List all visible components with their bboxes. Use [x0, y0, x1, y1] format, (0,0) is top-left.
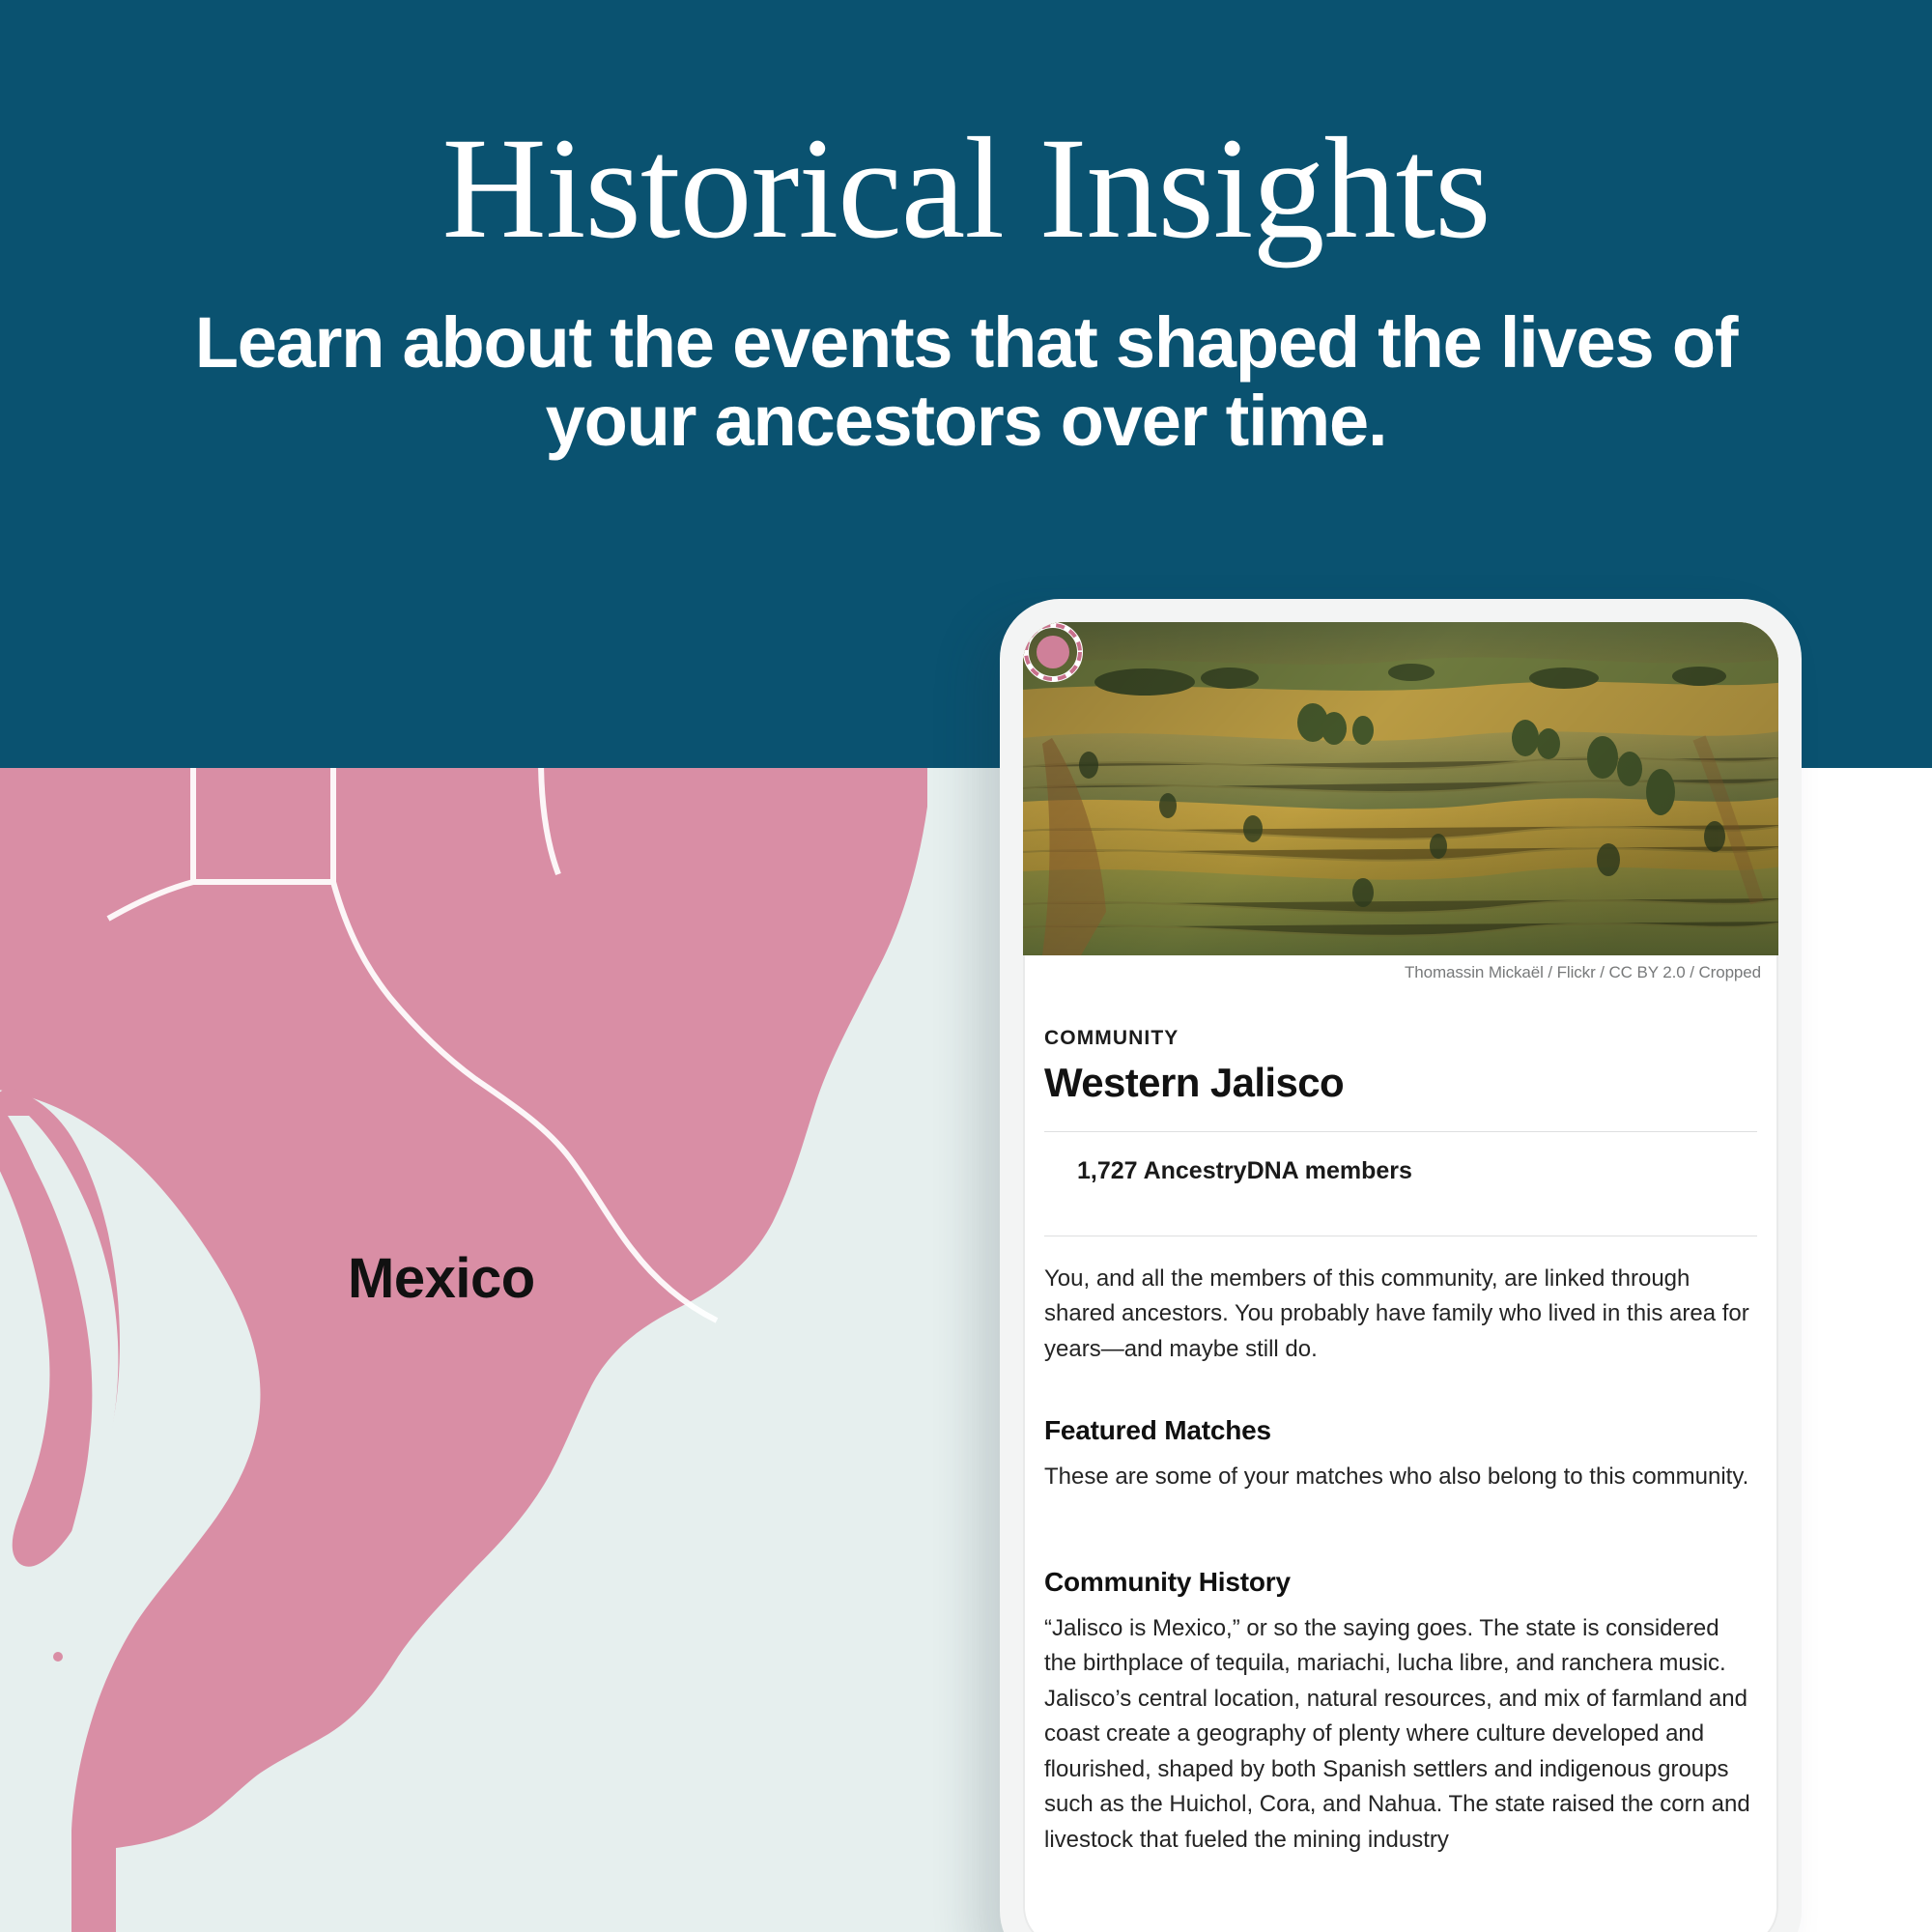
section-spacer — [1044, 1495, 1757, 1551]
photo-attribution: Thomassin Mickaël / Flickr / CC BY 2.0 /… — [1405, 963, 1761, 982]
phone-mockup: Thomassin Mickaël / Flickr / CC BY 2.0 /… — [1000, 599, 1802, 1932]
map-country-label: Mexico — [348, 1246, 535, 1311]
page-title: Historical Insights — [0, 0, 1932, 261]
divider-bottom — [1044, 1236, 1757, 1236]
phone-screen[interactable]: Thomassin Mickaël / Flickr / CC BY 2.0 /… — [1023, 622, 1778, 1932]
intro-paragraph: You, and all the members of this communi… — [1044, 1262, 1757, 1367]
community-hero-photo — [1023, 622, 1778, 955]
island-b — [53, 1652, 63, 1662]
section-heading-featured-matches: Featured Matches — [1044, 1415, 1757, 1446]
community-content: COMMUNITY Western Jalisco 1,727 Ancestry… — [1023, 1027, 1778, 1858]
map-svg — [0, 768, 1043, 1932]
mexico-map[interactable] — [0, 768, 1043, 1932]
community-ring-icon — [1023, 622, 1083, 682]
section-heading-community-history: Community History — [1044, 1567, 1757, 1598]
page-subtitle: Learn about the events that shaped the l… — [116, 261, 1816, 461]
community-title: Western Jalisco — [1044, 1060, 1757, 1106]
section-body-featured-matches: These are some of your matches who also … — [1044, 1460, 1757, 1494]
section-body-community-history: “Jalisco is Mexico,” or so the saying go… — [1044, 1611, 1757, 1858]
community-eyebrow: COMMUNITY — [1044, 1027, 1757, 1050]
farmland-illustration — [1023, 622, 1778, 955]
members-count: 1,727 AncestryDNA members — [1044, 1132, 1757, 1210]
